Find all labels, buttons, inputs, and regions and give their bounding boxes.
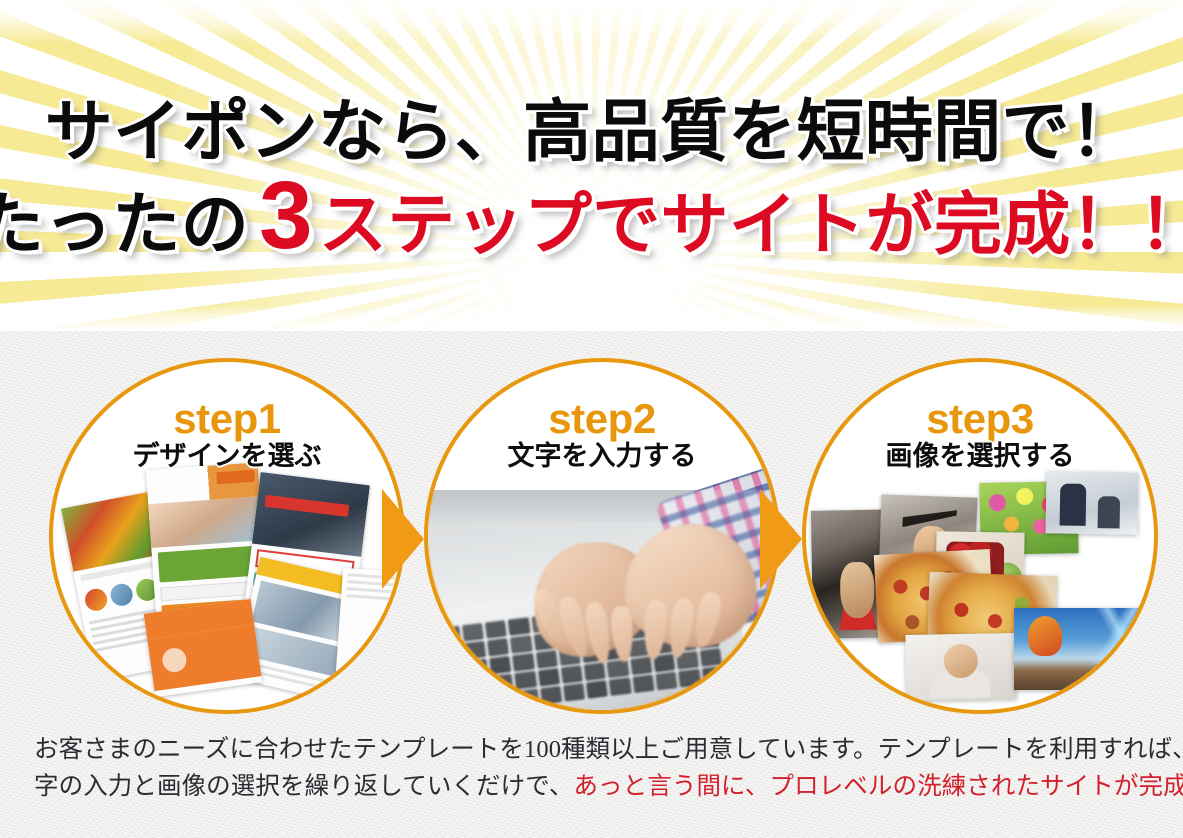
headline-suffix: ステップでサイトが完成！！ [319,189,1183,261]
caption-line-2-before: 字の入力と画像の選択を繰り返していくだけで、 [34,773,573,800]
caption-line-2-highlight: あっと言う間に、プロレベルの洗練されたサイトが完成 [573,773,1183,800]
caption-block: お客さまのニーズに合わせたテンプレートを100種類以上ご用意しています。テンプレ… [0,731,1183,805]
headline-prefix: たったの [0,189,249,261]
headline-step-count: 3 [249,175,319,257]
step-circle-2[interactable]: step2 文字を入力する [424,358,780,714]
photo-soft-overlay [424,490,780,714]
headline-group: サイポンなら、高品質を短時間で！ たったの 3 ステップでサイトが完成！！ [0,0,1183,331]
headline-line-1: サイポンなら、高品質を短時間で！ [45,96,1138,168]
hero-section: サイポンなら、高品質を短時間で！ たったの 3 ステップでサイトが完成！！ [0,0,1183,331]
flyer-thumb-orange [144,599,263,697]
step3-artwork [806,362,1154,710]
photo-balloon-sky [1014,608,1148,690]
step1-artwork [53,362,401,710]
photo-baby [905,633,1016,701]
caption-line-1: お客さまのニーズに合わせたテンプレートを100種類以上ご用意しています。テンプレ… [34,731,1149,768]
step-circle-1[interactable]: step1 デザインを選ぶ [49,358,405,714]
photo-business-meeting [1045,471,1138,535]
arrow-right-icon [382,489,424,589]
caption-line-2: 字の入力と画像の選択を繰り返していくだけで、あっと言う間に、プロレベルの洗練され… [34,768,1149,805]
marketing-banner: サイポンなら、高品質を短時間で！ たったの 3 ステップでサイトが完成！！ [0,0,1183,838]
arrow-right-icon [760,489,802,589]
step-circle-3[interactable]: step3 画像を選択する [802,358,1158,714]
step2-artwork [428,362,776,710]
headline-line-2: たったの 3 ステップでサイトが完成！！ [0,175,1183,261]
